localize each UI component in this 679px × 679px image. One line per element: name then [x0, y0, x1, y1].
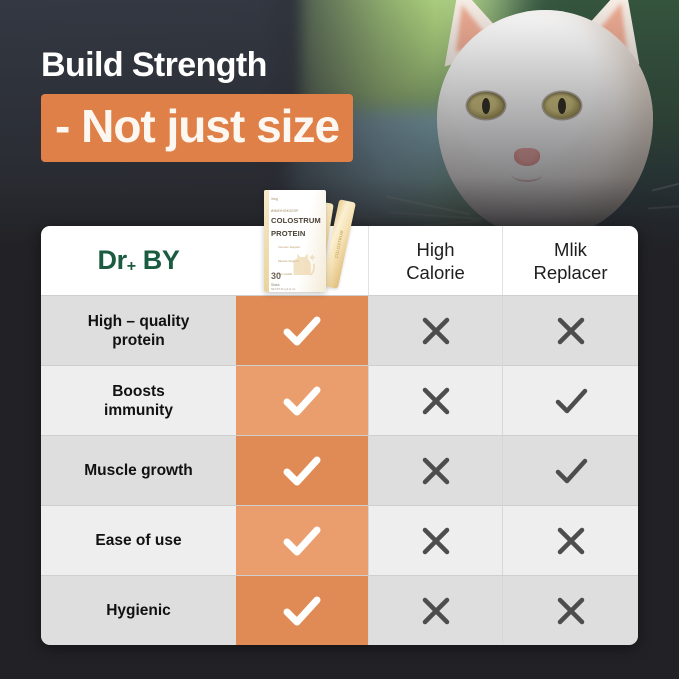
cell-high-calorie — [368, 366, 502, 435]
feature-label-line-2: protein — [88, 331, 190, 350]
cell-ours — [236, 436, 368, 505]
feature-label-line-1: Boosts — [104, 382, 173, 401]
column-header-label: Mlik Replacer — [533, 238, 607, 284]
feature-label: Boosts immunity — [94, 382, 183, 420]
cell-ours — [236, 576, 368, 645]
cell-ours — [236, 296, 368, 365]
brand-logo-text: Dr — [98, 245, 127, 275]
check-icon — [547, 377, 595, 425]
product-box-topline-2: ИММУНОКОЛОР — [271, 209, 326, 214]
cell-milk-replacer — [502, 366, 638, 435]
product-box-title-1: COLOSTRUM — [271, 217, 326, 226]
table-row: Hygienic — [41, 575, 638, 645]
cell-high-calorie — [368, 436, 502, 505]
check-icon — [278, 447, 326, 495]
cross-icon — [412, 517, 460, 565]
cat-silhouette-icon — [286, 250, 316, 276]
feature-label: Ease of use — [85, 531, 191, 550]
check-icon — [278, 377, 326, 425]
feature-label: High – quality protein — [78, 312, 200, 350]
product-box-count-unit: Sticks — [271, 283, 280, 287]
headline-line-1: Build Strength — [41, 44, 353, 86]
brand-logo-text-2: BY — [136, 245, 180, 275]
table-row: Ease of use — [41, 505, 638, 575]
brand-logo: Dr+ BY — [98, 245, 180, 276]
headline-line-2: - Not just size — [55, 99, 339, 153]
feature-cell: Boosts immunity — [41, 366, 236, 435]
cross-icon — [412, 587, 460, 635]
feature-label-line-1: High – quality — [88, 312, 190, 331]
cell-high-calorie — [368, 576, 502, 645]
feature-label-line-2: immunity — [104, 401, 173, 420]
feature-label-line-1: Ease of use — [95, 531, 181, 550]
feature-label-line-1: Hygienic — [106, 601, 171, 620]
cell-milk-replacer — [502, 506, 638, 575]
cell-ours — [236, 506, 368, 575]
headline-block: Build Strength - Not just size — [41, 44, 353, 162]
cross-icon — [547, 587, 595, 635]
cross-icon — [412, 377, 460, 425]
cell-milk-replacer — [502, 296, 638, 365]
product-box-title-2: PROTEIN — [271, 230, 326, 239]
feature-cell: Muscle growth — [41, 436, 236, 505]
table-row: Boosts immunity — [41, 365, 638, 435]
feature-cell: Ease of use — [41, 506, 236, 575]
product-box-stripe — [264, 190, 269, 292]
table-header-cell-milk-replacer: Mlik Replacer — [502, 226, 638, 295]
table-header-cell-high-calorie: High Calorie — [368, 226, 502, 295]
brand-logo-plus: + — [127, 258, 136, 275]
table-row: High – quality protein — [41, 295, 638, 365]
table-row: Muscle growth — [41, 435, 638, 505]
product-packshot: COLOSTRUM COLOSTRUM 3mg ИММУНОКОЛОР COLO… — [258, 186, 366, 296]
product-box-topline-1: 3mg — [271, 197, 326, 202]
cross-icon — [547, 517, 595, 565]
cell-high-calorie — [368, 296, 502, 365]
feature-label: Hygienic — [96, 601, 181, 620]
feature-label: Muscle growth — [74, 461, 203, 480]
cross-icon — [412, 307, 460, 355]
check-icon — [278, 307, 326, 355]
column-header-label: High Calorie — [406, 238, 465, 284]
product-box-count: 30 — [271, 272, 281, 281]
cell-milk-replacer — [502, 436, 638, 505]
headline-highlight-banner: - Not just size — [41, 94, 353, 162]
column-header-line-2: Replacer — [533, 261, 607, 284]
feature-label-line-1: Muscle growth — [84, 461, 193, 480]
product-box-net-weight: NET WT 60 g (2.11 oz) — [271, 288, 295, 291]
cell-high-calorie — [368, 506, 502, 575]
feature-cell: Hygienic — [41, 576, 236, 645]
product-comparison-poster: Build Strength - Not just size COLOSTRUM… — [0, 0, 679, 679]
check-icon — [547, 447, 595, 495]
check-icon — [278, 587, 326, 635]
column-header-line-1: Mlik — [533, 238, 607, 261]
cell-ours — [236, 366, 368, 435]
cell-milk-replacer — [502, 576, 638, 645]
column-header-line-2: Calorie — [406, 261, 465, 284]
feature-cell: High – quality protein — [41, 296, 236, 365]
check-icon — [278, 517, 326, 565]
column-header-line-1: High — [406, 238, 465, 261]
cross-icon — [547, 307, 595, 355]
product-stick-label: COLOSTRUM — [333, 230, 344, 259]
table-header-cell-brand: Dr+ BY — [41, 226, 236, 295]
product-box: 3mg ИММУНОКОЛОР COLOSTRUM PROTEIN Immune… — [264, 190, 326, 292]
cross-icon — [412, 447, 460, 495]
